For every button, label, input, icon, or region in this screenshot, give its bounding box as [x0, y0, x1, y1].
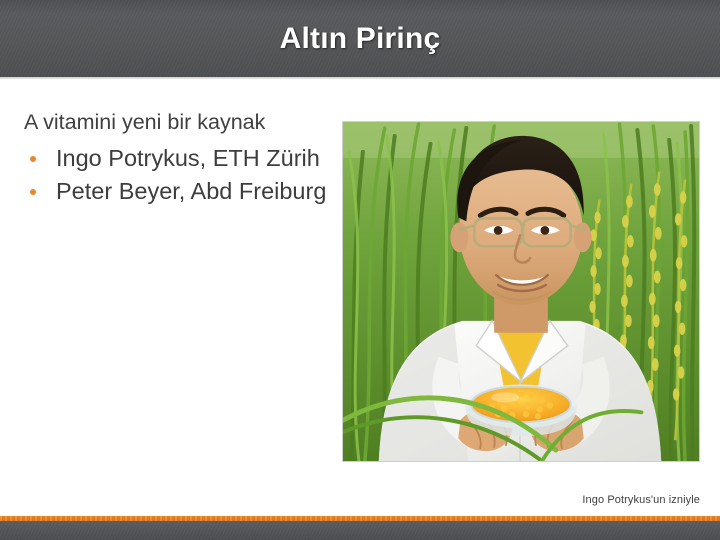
slide-footer-bar — [0, 521, 720, 540]
slide-title: Altın Pirinç — [0, 22, 720, 56]
bullet-dot-icon — [30, 189, 36, 195]
bullet-dot-icon — [30, 156, 36, 162]
lead-text: A vitamini yeni bir kaynak — [24, 108, 344, 137]
photo-credit-caption: Ingo Potrykus'un izniyle — [582, 494, 700, 506]
presentation-slide: Altın Pirinç A vitamini yeni bir kaynak … — [0, 0, 720, 540]
list-item: Ingo Potrykus, ETH Zürih — [24, 142, 344, 175]
photo-illustration — [343, 122, 699, 461]
header-divider — [0, 77, 720, 79]
list-item-label: Peter Beyer, Abd Freiburg — [56, 178, 326, 204]
bullet-list: Ingo Potrykus, ETH Zürih Peter Beyer, Ab… — [24, 142, 344, 209]
slide-text-content: A vitamini yeni bir kaynak Ingo Potrykus… — [24, 108, 344, 209]
list-item-label: Ingo Potrykus, ETH Zürih — [56, 145, 320, 171]
slide-photo — [342, 121, 700, 462]
list-item: Peter Beyer, Abd Freiburg — [24, 175, 344, 208]
